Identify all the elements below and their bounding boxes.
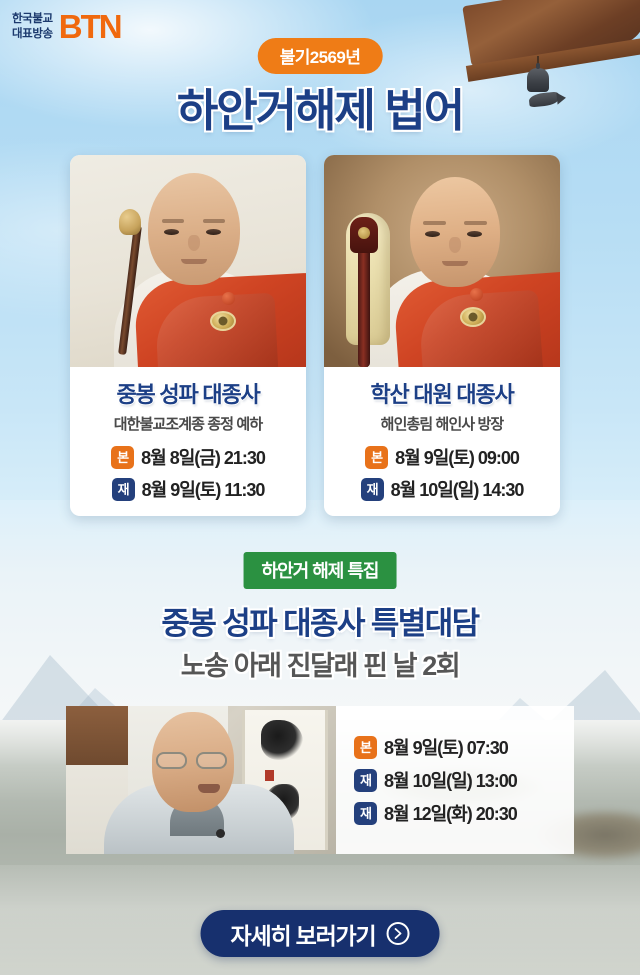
speaker-schedule: 본 8월 9일(토) 09:00 재 8월 10일(일) 14:30 — [332, 444, 552, 502]
nose-shape — [449, 237, 461, 253]
speaker-subtitle: 해인총림 해인사 방장 — [332, 413, 552, 434]
speaker-card[interactable]: 중봉 성파 대종사 대한불교조계종 종정 예하 본 8월 8일(금) 21:30… — [70, 155, 306, 516]
robe-knot-shape — [222, 292, 235, 305]
robe-fold-shape — [418, 290, 544, 367]
logo-tagline-line2: 대표방송 — [12, 27, 53, 41]
eye-shape — [164, 229, 179, 235]
page-title: 하안거해제 법어 — [0, 74, 640, 139]
schedule-row: 본 8월 9일(토) 09:00 — [365, 444, 519, 470]
speaker-photo — [324, 155, 560, 367]
glasses-icon — [152, 752, 236, 770]
schedule-row: 본 8월 8일(금) 21:30 — [111, 444, 265, 470]
schedule-time: 8월 9일(토) 11:30 — [142, 476, 265, 502]
schedule-time: 8월 10일(일) 13:00 — [384, 767, 517, 793]
whisk-cap-shape — [350, 217, 378, 253]
nose-shape — [188, 235, 200, 251]
logo-tagline-line1: 한국불교 — [12, 12, 53, 26]
robe-clasp-icon — [460, 307, 486, 327]
schedule-row: 재 8월 12일(화) 20:30 — [354, 800, 574, 826]
logo-tagline: 한국불교 대표방송 — [12, 12, 53, 40]
staff-head-shape — [119, 209, 141, 235]
speaker-photo — [70, 155, 306, 367]
eye-shape — [206, 229, 221, 235]
header-badge: 불기2569년 — [258, 38, 383, 74]
schedule-row: 재 8월 10일(일) 13:00 — [354, 767, 574, 793]
mouth-shape — [442, 261, 468, 266]
speaker-info: 학산 대원 대종사 해인총림 해인사 방장 본 8월 9일(토) 09:00 재… — [324, 367, 560, 516]
face-shape — [148, 173, 240, 285]
special-subtitle: 노송 아래 진달래 핀 날 2회 — [0, 644, 640, 683]
speaker-subtitle: 대한불교조계종 종정 예하 — [78, 413, 298, 434]
calligraphy-stroke — [261, 720, 303, 760]
calligraphy-seal — [265, 770, 274, 781]
schedule-time: 8월 8일(금) 21:30 — [141, 444, 265, 470]
schedule-time: 8월 12일(화) 20:30 — [384, 800, 517, 826]
special-badge: 하안거 해제 특집 — [244, 552, 397, 589]
brow-shape — [423, 221, 446, 225]
brow-shape — [464, 221, 487, 225]
broadcast-tag-rerun: 재 — [112, 478, 135, 501]
mouth-shape — [181, 259, 207, 264]
speaker-info: 중봉 성파 대종사 대한불교조계종 종정 예하 본 8월 8일(금) 21:30… — [70, 367, 306, 516]
brow-shape — [162, 219, 184, 223]
face-shape — [410, 177, 500, 287]
broadcast-tag-original: 본 — [365, 446, 388, 469]
special-title: 중봉 성파 대종사 특별대담 — [0, 598, 640, 643]
lapel-mic-icon — [216, 829, 225, 838]
speaker-name: 학산 대원 대종사 — [332, 377, 552, 409]
promo-poster: 한국불교 대표방송 BTN 불기2569년 하안거해제 법어 — [0, 0, 640, 975]
schedule-time: 8월 9일(토) 09:00 — [395, 444, 519, 470]
eye-shape — [425, 231, 440, 237]
speaker-name: 중봉 성파 대종사 — [78, 377, 298, 409]
broadcast-tag-original: 본 — [354, 736, 377, 759]
schedule-row: 본 8월 9일(토) 07:30 — [354, 734, 574, 760]
special-photo — [66, 706, 336, 854]
logo-wordmark: BTN — [59, 10, 121, 43]
cta-label: 자세히 보러가기 — [231, 917, 376, 951]
cta-button[interactable]: 자세히 보러가기 — [201, 910, 440, 957]
special-schedule: 본 8월 9일(토) 07:30 재 8월 10일(일) 13:00 재 8월 … — [336, 706, 574, 854]
schedule-time: 8월 10일(일) 14:30 — [391, 476, 524, 502]
whisk-handle-shape — [358, 243, 370, 367]
broadcast-tag-rerun: 재 — [361, 478, 384, 501]
speaker-card-list: 중봉 성파 대종사 대한불교조계종 종정 예하 본 8월 8일(금) 21:30… — [70, 155, 560, 516]
mouth-shape — [198, 784, 220, 793]
robe-clasp-icon — [210, 311, 236, 331]
broadcast-tag-rerun: 재 — [354, 769, 377, 792]
special-row: 본 8월 9일(토) 07:30 재 8월 10일(일) 13:00 재 8월 … — [66, 706, 574, 854]
eye-shape — [467, 231, 482, 237]
schedule-row: 재 8월 9일(토) 11:30 — [112, 476, 265, 502]
broadcast-tag-rerun: 재 — [354, 802, 377, 825]
schedule-row: 재 8월 10일(일) 14:30 — [361, 476, 524, 502]
speaker-card[interactable]: 학산 대원 대종사 해인총림 해인사 방장 본 8월 9일(토) 09:00 재… — [324, 155, 560, 516]
speaker-schedule: 본 8월 8일(금) 21:30 재 8월 9일(토) 11:30 — [78, 444, 298, 502]
chevron-right-circle-icon — [386, 922, 409, 945]
schedule-time: 8월 9일(토) 07:30 — [384, 734, 508, 760]
robe-knot-shape — [470, 288, 483, 301]
brow-shape — [203, 219, 225, 223]
btn-logo[interactable]: 한국불교 대표방송 BTN — [12, 10, 121, 43]
broadcast-tag-original: 본 — [111, 446, 134, 469]
